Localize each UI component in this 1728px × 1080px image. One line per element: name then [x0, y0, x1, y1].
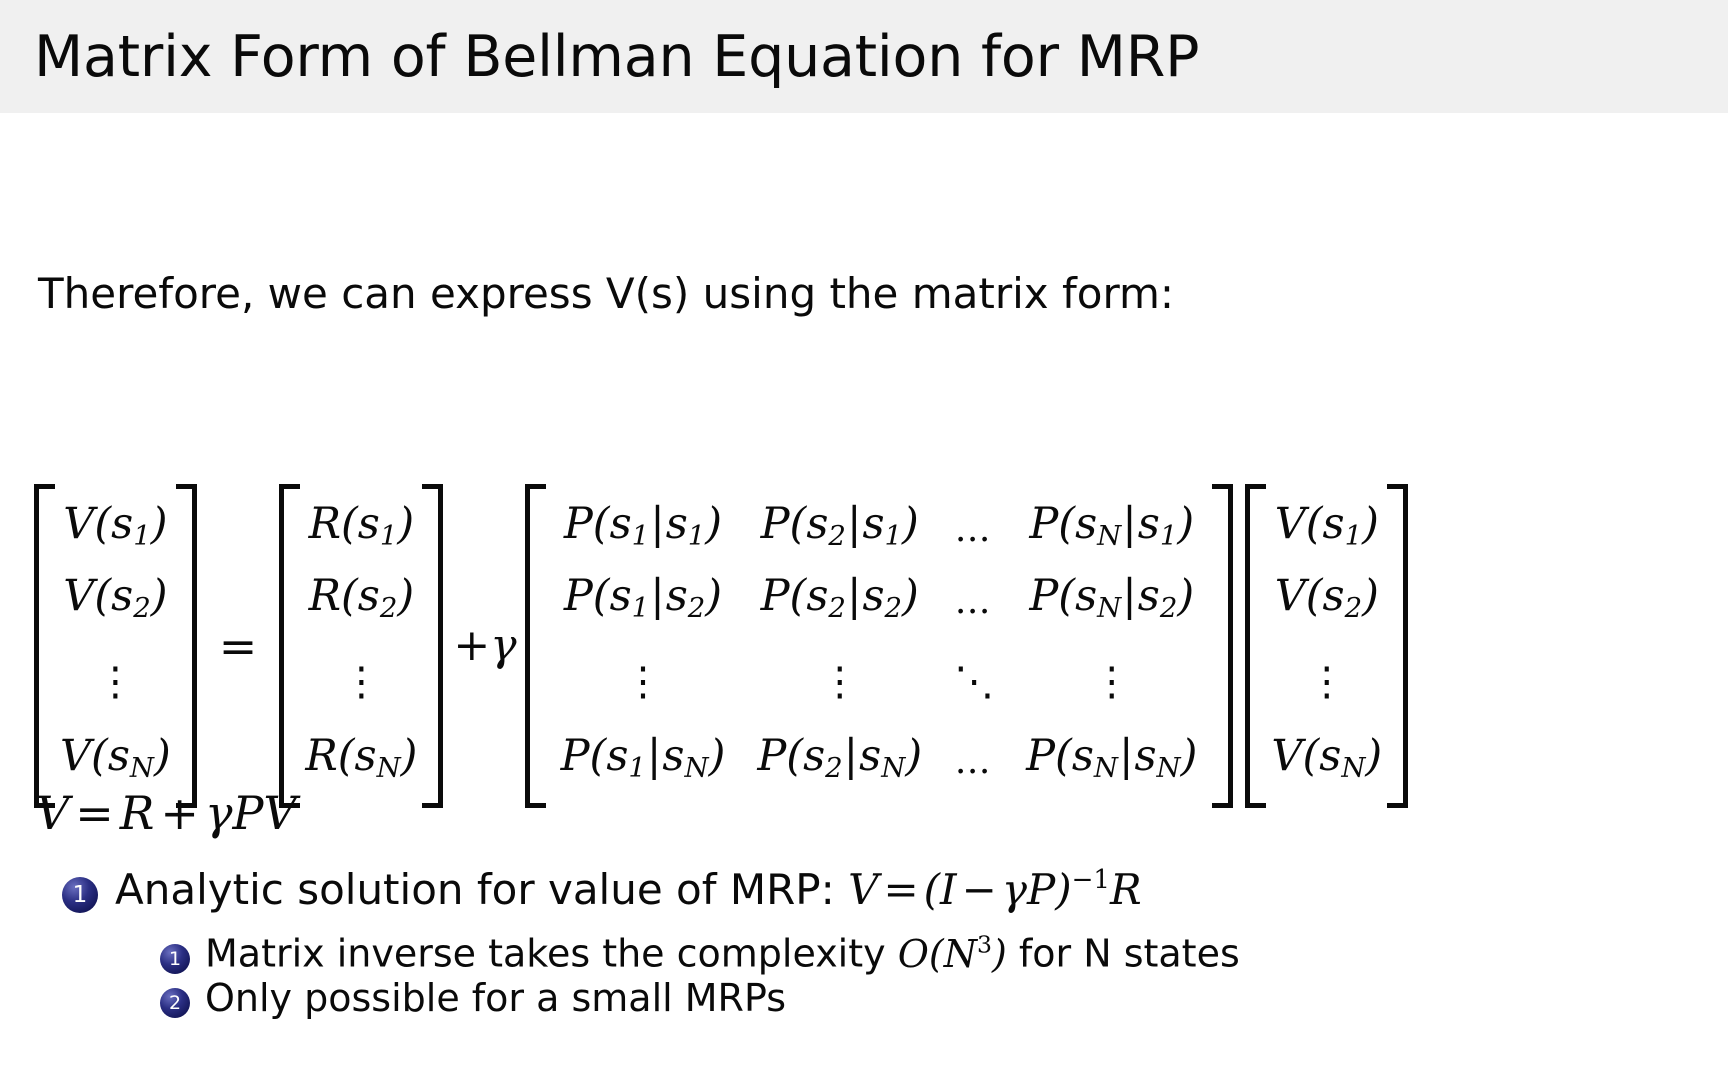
- complexity-formula: O(N3): [898, 932, 1007, 976]
- matrix-cell-r-s2: R(s2): [299, 566, 423, 638]
- matrix-cell-pn1: P(sN|s1): [1010, 494, 1213, 566]
- matrix-cell-pn2: P(sN|s2): [1010, 566, 1213, 638]
- lhs-value-vector: V(s1) V(s2) ⋮ V(sN): [34, 484, 197, 808]
- bullet-label-after: for N states: [1019, 932, 1240, 976]
- matrix-cell-vdots: ⋮: [299, 638, 423, 726]
- compact-eq-v2: V: [263, 786, 296, 840]
- matrix-cell-r-s1: R(s1): [299, 494, 423, 566]
- bullet-text: Matrix inverse takes the complexity O(N3…: [205, 921, 1240, 977]
- matrix-cell-v-s2: V(s2): [1265, 566, 1388, 638]
- matrix-cell-p2n: P(s2|sN): [741, 726, 938, 798]
- compact-eq-plus: +: [154, 786, 205, 840]
- bullet-text: Only possible for a small MRPs: [205, 975, 786, 1021]
- matrix-cell-p1n: P(s1|sN): [545, 726, 742, 798]
- matrix-row: R(s2): [299, 566, 423, 638]
- matrix-row: P(s1|sN) P(s2|sN) … P(sN|sN): [545, 726, 1214, 798]
- matrix-row: V(s2): [1265, 566, 1388, 638]
- matrix-row: ⋮ ⋮ ⋱ ⋮: [545, 638, 1214, 726]
- matrix-cell-hdots: …: [938, 494, 1010, 566]
- matrix-cell-p11: P(s1|s1): [545, 494, 742, 566]
- bullet-text: Analytic solution for value of MRP: V=(I…: [115, 855, 1142, 915]
- analytic-solution-formula: V=(I−γP)−1R: [848, 865, 1142, 914]
- bullet-marker-1-icon: 1: [62, 877, 98, 913]
- list-item: 2 Only possible for a small MRPs: [160, 975, 786, 1021]
- page-title: Matrix Form of Bellman Equation for MRP: [34, 22, 1199, 92]
- compact-bellman-equation: V=R+γPV: [36, 785, 297, 841]
- matrix-cell-hdots: …: [938, 726, 1010, 798]
- list-item: 1 Matrix inverse takes the complexity O(…: [160, 921, 1240, 977]
- equals-sign: =: [197, 623, 280, 669]
- matrix-row: V(sN): [1265, 726, 1388, 798]
- bullet-label-before: Matrix inverse takes the complexity: [205, 932, 886, 976]
- intro-text: Therefore, we can express V(s) using the…: [38, 268, 1174, 320]
- matrix-cell-ddots: ⋱: [938, 638, 1010, 726]
- plus-gamma-operator: +γ: [443, 624, 524, 668]
- matrix-cell-v-s2: V(s2): [54, 566, 177, 638]
- reward-vector: R(s1) R(s2) ⋮ R(sN): [279, 484, 443, 808]
- matrix-cell-p21: P(s2|s1): [741, 494, 938, 566]
- compact-eq-v: V: [36, 786, 69, 840]
- matrix-row: ⋮: [1265, 638, 1388, 726]
- matrix-row: ⋮: [299, 638, 423, 726]
- matrix-cell-vdots: ⋮: [54, 638, 177, 726]
- list-item: 1 Analytic solution for value of MRP: V=…: [62, 855, 1142, 915]
- compact-eq-p: P: [232, 786, 263, 840]
- compact-eq-r: R: [120, 786, 155, 840]
- matrix-cell-r-sn: R(sN): [299, 726, 423, 798]
- matrix-cell-vdots: ⋮: [545, 638, 742, 726]
- rhs-value-vector: V(s1) V(s2) ⋮ V(sN): [1245, 484, 1408, 808]
- matrix-row: ⋮: [54, 638, 177, 726]
- matrix-cell-pnn: P(sN|sN): [1010, 726, 1213, 798]
- matrix-cell-p12: P(s1|s2): [545, 566, 742, 638]
- matrix-cell-vdots: ⋮: [1265, 638, 1388, 726]
- bullet-marker-2-icon: 2: [160, 988, 190, 1018]
- transition-probability-matrix: P(s1|s1) P(s2|s1) … P(sN|s1) P(s1|s2) P(…: [525, 484, 1234, 808]
- matrix-cell-v-s1: V(s1): [54, 494, 177, 566]
- plus-sign: +: [453, 620, 490, 671]
- matrix-row: V(s2): [54, 566, 177, 638]
- matrix-row: P(s1|s2) P(s2|s2) … P(sN|s2): [545, 566, 1214, 638]
- matrix-row: V(s1): [1265, 494, 1388, 566]
- matrix-cell-hdots: …: [938, 566, 1010, 638]
- bullet-marker-1-icon: 1: [160, 944, 190, 974]
- matrix-row: P(s1|s1) P(s2|s1) … P(sN|s1): [545, 494, 1214, 566]
- matrix-equation: V(s1) V(s2) ⋮ V(sN) = R(s1): [34, 501, 1408, 791]
- matrix-cell-p22: P(s2|s2): [741, 566, 938, 638]
- matrix-cell-vdots: ⋮: [1010, 638, 1213, 726]
- matrix-cell-vdots: ⋮: [741, 638, 938, 726]
- matrix-row: R(sN): [299, 726, 423, 798]
- gamma-symbol: γ: [490, 620, 516, 671]
- matrix-cell-v-sn: V(sN): [1265, 726, 1388, 798]
- bullet-label: Analytic solution for value of MRP:: [115, 865, 835, 914]
- matrix-cell-v-s1: V(s1): [1265, 494, 1388, 566]
- matrix-row: R(s1): [299, 494, 423, 566]
- compact-eq-gamma: γ: [205, 786, 233, 840]
- matrix-row: V(s1): [54, 494, 177, 566]
- compact-eq-equals: =: [69, 786, 120, 840]
- slide-body: Therefore, we can express V(s) using the…: [0, 113, 1728, 1080]
